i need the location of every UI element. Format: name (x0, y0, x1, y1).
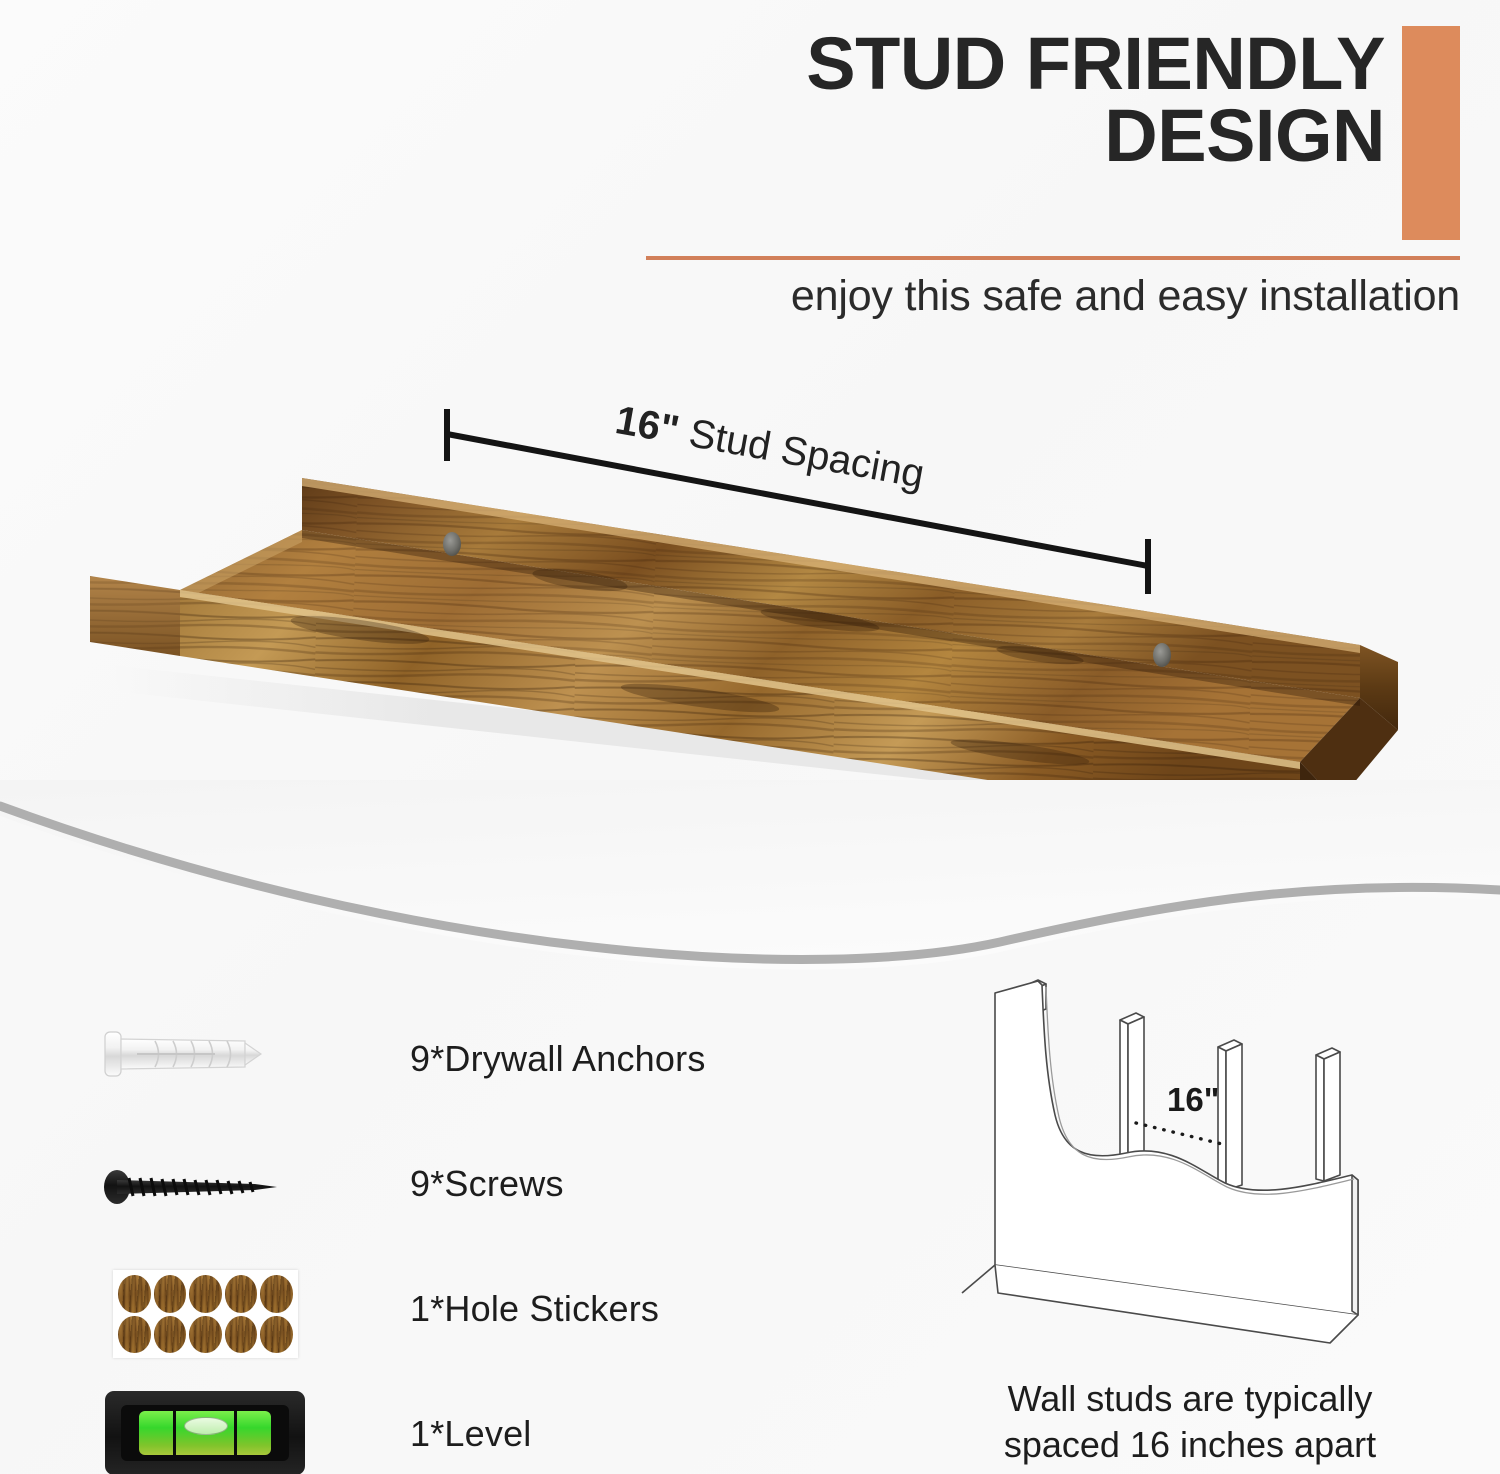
list-item: 9*Drywall Anchors (95, 1010, 735, 1135)
product-infographic: STUD FRIENDLY DESIGN enjoy this safe and… (0, 0, 1500, 1474)
bubble-level-icon (95, 1385, 325, 1474)
sticker-dot (260, 1275, 293, 1313)
stud (1218, 1040, 1242, 1190)
mounting-hole-left (443, 532, 461, 556)
sticker-sheet (113, 1270, 298, 1358)
subtitle: enjoy this safe and easy installation (640, 272, 1460, 321)
diagram-caption: Wall studs are typically spaced 16 inche… (955, 1376, 1425, 1468)
dimension-value: 16" (612, 398, 682, 453)
accessories-list: 9*Drywall Anchors (95, 1010, 735, 1474)
sticker-dot (118, 1275, 151, 1313)
stud (1316, 1048, 1340, 1181)
section-divider-curve (0, 780, 1500, 1000)
sticker-dot (154, 1275, 187, 1313)
title-divider-rule (646, 256, 1460, 260)
list-item-label: 1*Level (410, 1413, 532, 1455)
drywall-anchor-icon (95, 1010, 325, 1120)
title-line-1: STUD FRIENDLY (806, 22, 1385, 105)
sticker-dot (189, 1316, 222, 1354)
screw-icon (95, 1135, 325, 1245)
hole-sticker-sheet-icon (95, 1260, 325, 1370)
list-item-label: 9*Screws (410, 1163, 564, 1205)
caption-line-1: Wall studs are typically (955, 1376, 1425, 1422)
caption-line-2: spaced 16 inches apart (955, 1422, 1425, 1468)
sticker-dot (260, 1316, 293, 1354)
drywall-sheet (995, 981, 1358, 1315)
list-item: 1*Hole Stickers (95, 1260, 735, 1385)
level-body (105, 1391, 305, 1474)
level-bubble (184, 1417, 228, 1435)
wall-stud-svg: 16" (960, 975, 1410, 1375)
list-item: 1*Level (95, 1385, 735, 1474)
sticker-dot (225, 1316, 258, 1354)
list-item: 9*Screws (95, 1135, 735, 1260)
page-title: STUD FRIENDLY DESIGN (640, 28, 1385, 172)
measure-label: 16" (1167, 1081, 1219, 1118)
accent-bar (1402, 26, 1460, 240)
sticker-dot (118, 1316, 151, 1354)
sticker-dot (225, 1275, 258, 1313)
sticker-dot (154, 1316, 187, 1354)
wall-stud-diagram: 16" (960, 975, 1410, 1375)
divider-curve-svg (0, 780, 1500, 1000)
level-vial (139, 1411, 271, 1455)
mounting-hole-right (1153, 643, 1171, 667)
measure-dotted-line (1136, 1123, 1226, 1145)
list-item-label: 1*Hole Stickers (410, 1288, 659, 1330)
sticker-dot (189, 1275, 222, 1313)
list-item-label: 9*Drywall Anchors (410, 1038, 706, 1080)
title-line-2: DESIGN (640, 100, 1385, 172)
